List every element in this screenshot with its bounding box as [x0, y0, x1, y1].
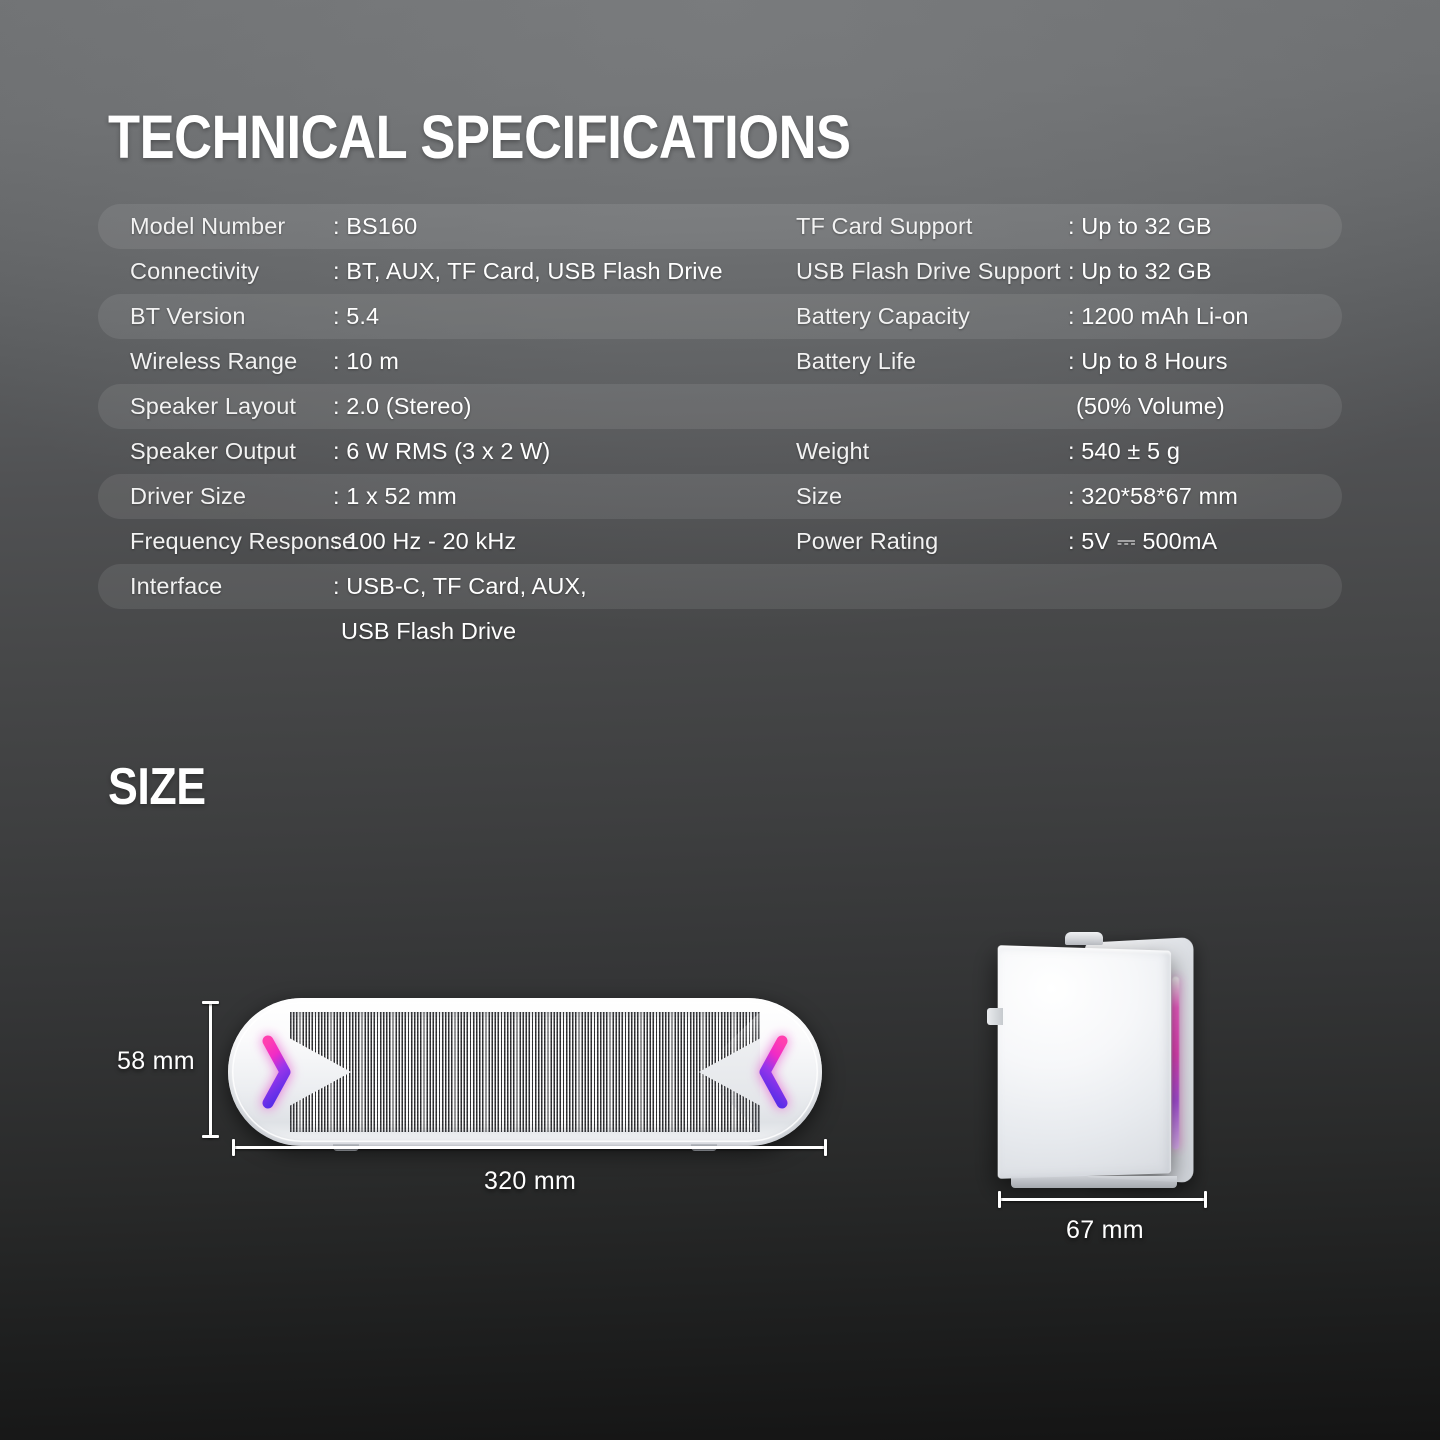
row-right-cell — [782, 573, 1342, 600]
row-left-cell: Driver Size : 1 x 52 mm — [98, 483, 782, 510]
table-row: Frequency Response : 100 Hz - 20 kHz Pow… — [98, 519, 1342, 564]
dimension-line-depth — [999, 1198, 1207, 1201]
dimension-line-height — [209, 1002, 212, 1138]
table-row: Connectivity : BT, AUX, TF Card, USB Fla… — [98, 249, 1342, 294]
table-row: Speaker Layout : 2.0 (Stereo) (50% Volum… — [98, 384, 1342, 429]
dimension-cap — [824, 1139, 827, 1156]
spec-value: : 1200 mAh Li-on — [1068, 303, 1249, 330]
speaker-front-view — [228, 998, 822, 1146]
spec-label: Frequency Response — [98, 528, 333, 555]
row-left-cell: Model Number : BS160 — [98, 213, 782, 240]
row-left-cell: Speaker Layout : 2.0 (Stereo) — [98, 393, 782, 420]
speaker-side-base — [1011, 1176, 1177, 1188]
row-right-cell — [782, 618, 1342, 645]
spec-value: : Up to 8 Hours — [1068, 348, 1228, 375]
row-left-cell: Speaker Output : 6 W RMS (3 x 2 W) — [98, 438, 782, 465]
spec-value: : 100 Hz - 20 kHz — [333, 528, 516, 555]
dimension-label-depth: 67 mm — [1066, 1216, 1144, 1245]
spec-value: : 10 m — [333, 348, 399, 375]
spec-value-power-rating: : 5V ⎓ 500mA — [1068, 528, 1217, 555]
spec-label: Size — [782, 483, 1068, 510]
spec-value: : 540 ± 5 g — [1068, 438, 1180, 465]
spec-value: : 2.0 (Stereo) — [333, 393, 472, 420]
size-diagram — [0, 880, 1440, 1300]
spec-label: Connectivity — [98, 258, 333, 285]
row-right-cell: TF Card Support : Up to 32 GB — [782, 213, 1342, 240]
speaker-body — [228, 998, 822, 1146]
row-left-cell: BT Version : 5.4 — [98, 303, 782, 330]
row-left-cell: Frequency Response : 100 Hz - 20 kHz — [98, 528, 782, 555]
dimension-label-width: 320 mm — [484, 1167, 576, 1196]
spec-label: Battery Capacity — [782, 303, 1068, 330]
spec-label: Speaker Layout — [98, 393, 333, 420]
dimension-cap — [1204, 1191, 1207, 1208]
spec-label: Interface — [98, 573, 333, 600]
spec-value: : USB-C, TF Card, AUX, — [333, 573, 587, 600]
table-row: Model Number : BS160 TF Card Support : U… — [98, 204, 1342, 249]
dimension-cap — [232, 1139, 235, 1156]
spec-value: : BT, AUX, TF Card, USB Flash Drive — [333, 258, 723, 285]
section-title-size: SIZE — [108, 758, 206, 816]
row-right-cell: Size : 320*58*67 mm — [782, 483, 1342, 510]
spec-value: : BS160 — [333, 213, 417, 240]
dimension-label-height: 58 mm — [117, 1047, 195, 1076]
spec-label: TF Card Support — [782, 213, 1068, 240]
spec-value-continuation: (50% Volume) — [1068, 393, 1225, 420]
row-right-cell: USB Flash Drive Support : Up to 32 GB — [782, 258, 1342, 285]
table-row: BT Version : 5.4 Battery Capacity : 1200… — [98, 294, 1342, 339]
spec-value: : 5.4 — [333, 303, 379, 330]
spec-label: Wireless Range — [98, 348, 333, 375]
specifications-table: Model Number : BS160 TF Card Support : U… — [98, 204, 1342, 654]
dimension-cap — [202, 1001, 219, 1004]
speaker-grille-mesh — [290, 1012, 760, 1132]
table-row: Interface : USB-C, TF Card, AUX, — [98, 564, 1342, 609]
spec-value-continuation: USB Flash Drive — [333, 618, 516, 645]
spec-label: Weight — [782, 438, 1068, 465]
row-left-cell: Interface : USB-C, TF Card, AUX, — [98, 573, 782, 600]
speaker-side-view — [985, 930, 1215, 1200]
spec-label: Driver Size — [98, 483, 333, 510]
spec-label: Power Rating — [782, 528, 1068, 555]
chevron-rgb-icon — [759, 1034, 789, 1110]
table-row: USB Flash Drive — [98, 609, 1342, 654]
spec-value: : Up to 32 GB — [1068, 213, 1212, 240]
table-row: Driver Size : 1 x 52 mm Size : 320*58*67… — [98, 474, 1342, 519]
row-right-cell: Battery Capacity : 1200 mAh Li-on — [782, 303, 1342, 330]
spec-label: Model Number — [98, 213, 333, 240]
row-right-cell: (50% Volume) — [782, 393, 1342, 420]
row-left-cell: Connectivity : BT, AUX, TF Card, USB Fla… — [98, 258, 782, 285]
spec-label: USB Flash Drive Support — [782, 258, 1068, 285]
dimension-cap — [998, 1191, 1001, 1208]
speaker-side-front-panel — [998, 945, 1171, 1179]
table-row: Wireless Range : 10 m Battery Life : Up … — [98, 339, 1342, 384]
speaker-side-port — [987, 1008, 1003, 1025]
spec-value: : 6 W RMS (3 x 2 W) — [333, 438, 550, 465]
spec-value: : 1 x 52 mm — [333, 483, 457, 510]
speaker-top-button — [1065, 932, 1103, 945]
rgb-light-strip — [1172, 977, 1179, 1150]
spec-label: BT Version — [98, 303, 333, 330]
chevron-rgb-icon — [261, 1034, 291, 1110]
spec-label: Speaker Output — [98, 438, 333, 465]
table-row: Speaker Output : 6 W RMS (3 x 2 W) Weigh… — [98, 429, 1342, 474]
row-right-cell: Weight : 540 ± 5 g — [782, 438, 1342, 465]
spec-label: Battery Life — [782, 348, 1068, 375]
row-right-cell: Power Rating : 5V ⎓ 500mA — [782, 528, 1342, 555]
dimension-line-width — [233, 1146, 827, 1149]
row-left-cell: USB Flash Drive — [98, 618, 782, 645]
page-title-technical-specifications: TECHNICAL SPECIFICATIONS — [108, 104, 851, 170]
spec-value: : Up to 32 GB — [1068, 258, 1212, 285]
spec-value: : 320*58*67 mm — [1068, 483, 1238, 510]
row-right-cell: Battery Life : Up to 8 Hours — [782, 348, 1342, 375]
dimension-cap — [202, 1135, 219, 1138]
row-left-cell: Wireless Range : 10 m — [98, 348, 782, 375]
